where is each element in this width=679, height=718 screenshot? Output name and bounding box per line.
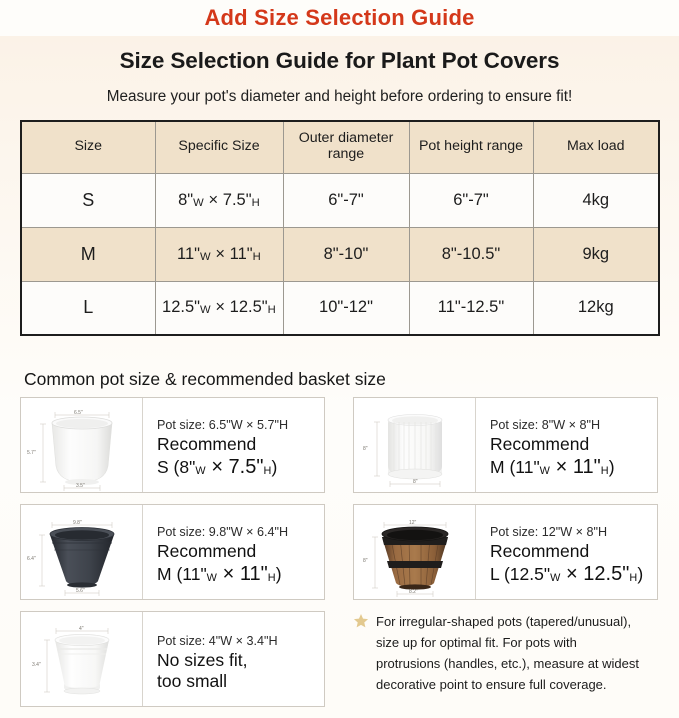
star-icon xyxy=(353,613,369,695)
cell-size: S xyxy=(21,173,155,227)
cell-specific-size: 12.5"W × 12.5"H xyxy=(155,281,283,335)
pot-size-text: Pot size: 9.8"W × 6.4"H xyxy=(157,525,324,539)
card-text-ribbed-white: Pot size: 8"W × 8"H Recommend M (11"W × … xyxy=(476,398,657,492)
page-title: Add Size Selection Guide xyxy=(0,0,679,36)
pot-image-white-round: 6.5" 5.7" 3.5" xyxy=(21,398,143,492)
col-header-pot-height: Pot height range xyxy=(409,121,533,173)
recommend-label: Recommend xyxy=(490,434,657,454)
dim-bottom-label: 8" xyxy=(413,479,418,485)
guide-panel: Size Selection Guide for Plant Pot Cover… xyxy=(0,36,679,718)
pot-image-too-small: 4" 3.4" xyxy=(21,612,143,706)
dim-bottom-label: 8.2" xyxy=(409,589,418,595)
recommend-value: L (12.5"W × 12.5"H) xyxy=(490,562,657,586)
guide-heading: Size Selection Guide for Plant Pot Cover… xyxy=(0,48,679,74)
card-white-round-pot: 6.5" 5.7" 3.5" Pot size: 6.5"W × 5.7"H R… xyxy=(20,397,325,493)
pot-size-text: Pot size: 8"W × 8"H xyxy=(490,418,657,432)
dim-top-label: 4" xyxy=(79,626,84,632)
card-text-white-round: Pot size: 6.5"W × 5.7"H Recommend S (8"W… xyxy=(143,398,324,492)
pot-size-text: Pot size: 6.5"W × 5.7"H xyxy=(157,418,324,432)
col-header-max-load: Max load xyxy=(533,121,659,173)
dark-bowl-pot-icon xyxy=(21,505,143,600)
no-fit-label: No sizes fit, xyxy=(157,650,324,670)
note-line-1: For irregular-shaped pots (tapered/unusu… xyxy=(376,611,639,632)
card-ribbed-white-pot: 8" 8" Pot size: 8"W × 8"H Recommend M (1… xyxy=(353,397,658,493)
cell-max-load: 4kg xyxy=(533,173,659,227)
cell-size: M xyxy=(21,227,155,281)
table-row: S 8"W × 7.5"H 6"-7" 6"-7" 4kg xyxy=(21,173,659,227)
note-line-4: decorative point to ensure full coverage… xyxy=(376,674,639,695)
cell-pot-height: 8"-10.5" xyxy=(409,227,533,281)
cell-specific-size: 8"W × 7.5"H xyxy=(155,173,283,227)
cell-pot-height: 6"-7" xyxy=(409,173,533,227)
pot-image-dark-bowl: 9.8" 6.4" 5.6" xyxy=(21,505,143,599)
cell-max-load: 9kg xyxy=(533,227,659,281)
pot-size-text: Pot size: 4"W × 3.4"H xyxy=(157,634,324,648)
note-line-3: protrusions (handles, etc.), measure at … xyxy=(376,653,639,674)
irregular-pot-note: For irregular-shaped pots (tapered/unusu… xyxy=(353,611,658,695)
dim-top-label: 12" xyxy=(409,520,416,526)
dim-top-label: 9.8" xyxy=(73,520,82,526)
pot-image-wood-barrel: 12" 8" 8.2" xyxy=(354,505,476,599)
card-wood-barrel-pot: 12" 8" 8.2" Pot size: 12"W × 8"H Recomme… xyxy=(353,504,658,600)
card-too-small-pot: 4" 3.4" Pot size: 4"W × 3.4"H No sizes f… xyxy=(20,611,325,707)
card-text-too-small: Pot size: 4"W × 3.4"H No sizes fit, too … xyxy=(143,612,324,706)
recommend-value: M (11"W × 11"H) xyxy=(490,455,657,479)
col-header-outer-diameter: Outer diameter range xyxy=(283,121,409,173)
recommend-label: Recommend xyxy=(490,541,657,561)
cell-pot-height: 11"-12.5" xyxy=(409,281,533,335)
cell-outer-diameter: 6"-7" xyxy=(283,173,409,227)
dim-bottom-label: 5.6" xyxy=(76,588,85,594)
cell-outer-diameter: 8"-10" xyxy=(283,227,409,281)
cell-outer-diameter: 10"-12" xyxy=(283,281,409,335)
size-guide-page: Add Size Selection Guide Size Selection … xyxy=(0,0,679,718)
card-text-dark-bowl: Pot size: 9.8"W × 6.4"H Recommend M (11"… xyxy=(143,505,324,599)
section-heading: Common pot size & recommended basket siz… xyxy=(24,369,386,390)
size-table: Size Specific Size Outer diameter range … xyxy=(20,120,660,336)
guide-subheading: Measure your pot's diameter and height b… xyxy=(0,88,679,106)
pot-image-ribbed-white: 8" 8" xyxy=(354,398,476,492)
dim-left-label: 6.4" xyxy=(27,556,36,562)
card-dark-bowl-pot: 9.8" 6.4" 5.6" Pot size: 9.8"W × 6.4"H R… xyxy=(20,504,325,600)
table-header-row: Size Specific Size Outer diameter range … xyxy=(21,121,659,173)
recommend-label: Recommend xyxy=(157,434,324,454)
cell-specific-size: 11"W × 11"H xyxy=(155,227,283,281)
pot-size-text: Pot size: 12"W × 8"H xyxy=(490,525,657,539)
dim-left-label: 8" xyxy=(363,446,368,452)
recommend-value: S (8"W × 7.5"H) xyxy=(157,455,324,479)
note-line-2: size up for optimal fit. For pots with xyxy=(376,632,639,653)
dim-left-label: 3.4" xyxy=(32,662,41,668)
dim-left-label: 8" xyxy=(363,558,368,564)
recommend-value: M (11"W × 11"H) xyxy=(157,562,324,586)
dim-left-label: 5.7" xyxy=(27,450,36,456)
cell-max-load: 12kg xyxy=(533,281,659,335)
no-fit-label-2: too small xyxy=(157,671,324,691)
note-text: For irregular-shaped pots (tapered/unusu… xyxy=(376,611,639,695)
col-header-size: Size xyxy=(21,121,155,173)
cell-size: L xyxy=(21,281,155,335)
dim-bottom-label: 3.5" xyxy=(76,483,85,489)
table-row: M 11"W × 11"H 8"-10" 8"-10.5" 9kg xyxy=(21,227,659,281)
card-text-wood-barrel: Pot size: 12"W × 8"H Recommend L (12.5"W… xyxy=(476,505,657,599)
table-row: L 12.5"W × 12.5"H 10"-12" 11"-12.5" 12kg xyxy=(21,281,659,335)
dim-top-label: 6.5" xyxy=(74,410,83,416)
col-header-specific-size: Specific Size xyxy=(155,121,283,173)
recommend-label: Recommend xyxy=(157,541,324,561)
